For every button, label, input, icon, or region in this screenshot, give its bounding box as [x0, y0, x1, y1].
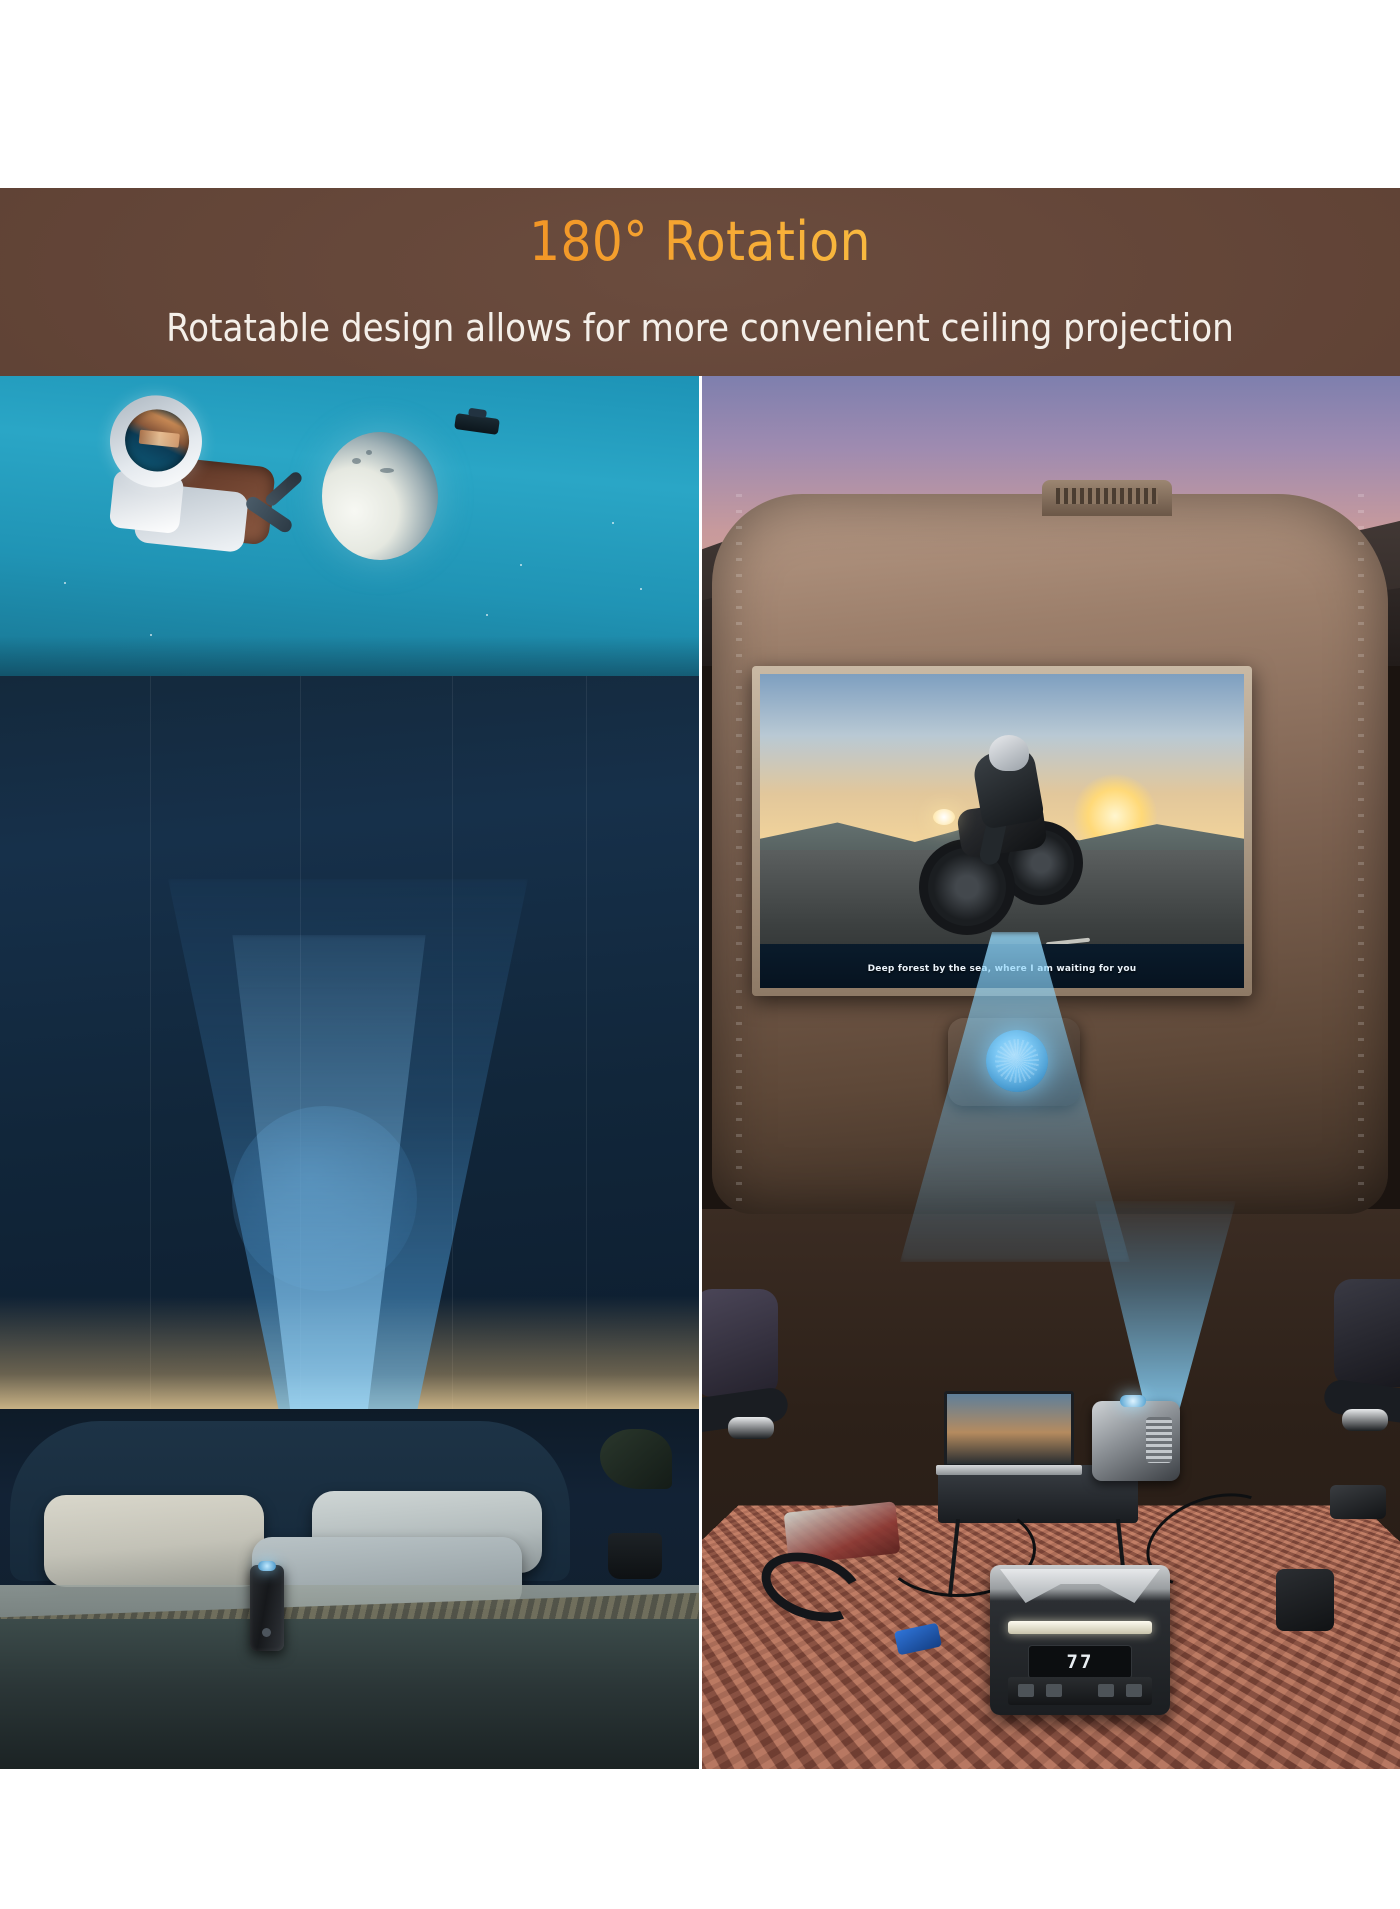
banner-title: 180° Rotation [0, 210, 1400, 273]
power-station-port-panel[interactable] [1008, 1677, 1152, 1705]
spacecraft-graphic [454, 413, 500, 435]
trailer-roof-vent [1042, 480, 1172, 516]
product-feature-page: 180° Rotation Rotatable design allows fo… [0, 0, 1400, 1909]
projector-power-button[interactable] [262, 1628, 271, 1637]
power-station-light-bar [1008, 1621, 1152, 1634]
laptop[interactable] [944, 1391, 1074, 1477]
feature-banner: 180° Rotation Rotatable design allows fo… [0, 188, 1400, 376]
bed-area [0, 1409, 700, 1769]
ceiling-projection-surface [0, 376, 700, 696]
panel-divider [699, 376, 702, 1769]
panel-bedroom-ceiling-projection [0, 376, 700, 1769]
duvet [0, 1619, 700, 1769]
portable-power-station[interactable]: 77 [990, 1565, 1170, 1715]
projector-lens-icon [258, 1561, 276, 1571]
laptop-screen [944, 1391, 1074, 1467]
bottom-white-gutter [0, 1769, 1400, 1909]
camera-device [1330, 1485, 1386, 1519]
laptop-keyboard[interactable] [936, 1465, 1082, 1475]
power-station-handle [1000, 1569, 1160, 1603]
banner-subtitle: Rotatable design allows for more conveni… [0, 306, 1400, 350]
moon-graphic [322, 432, 438, 560]
projector-lens-icon [1120, 1395, 1146, 1407]
headlight-icon [933, 809, 955, 825]
potted-plant [590, 1429, 680, 1579]
portable-speaker [1276, 1569, 1334, 1631]
scene-collage: Deep forest by the sea, where I am waiti… [0, 376, 1400, 1769]
bedroom-projector[interactable] [250, 1565, 284, 1651]
astronaut-graphic [86, 376, 315, 558]
panel-outdoor-camping-projection: Deep forest by the sea, where I am waiti… [700, 376, 1400, 1769]
seated-person [700, 1289, 800, 1519]
speaker-grill-icon [1146, 1417, 1172, 1463]
mini-projector[interactable] [1092, 1401, 1180, 1481]
power-station-display: 77 [1028, 1645, 1132, 1679]
motorcycle-rider-graphic [925, 743, 1075, 933]
top-white-gutter [0, 0, 1400, 188]
power-station-display-value: 77 [1029, 1651, 1131, 1673]
pillow [44, 1495, 264, 1587]
